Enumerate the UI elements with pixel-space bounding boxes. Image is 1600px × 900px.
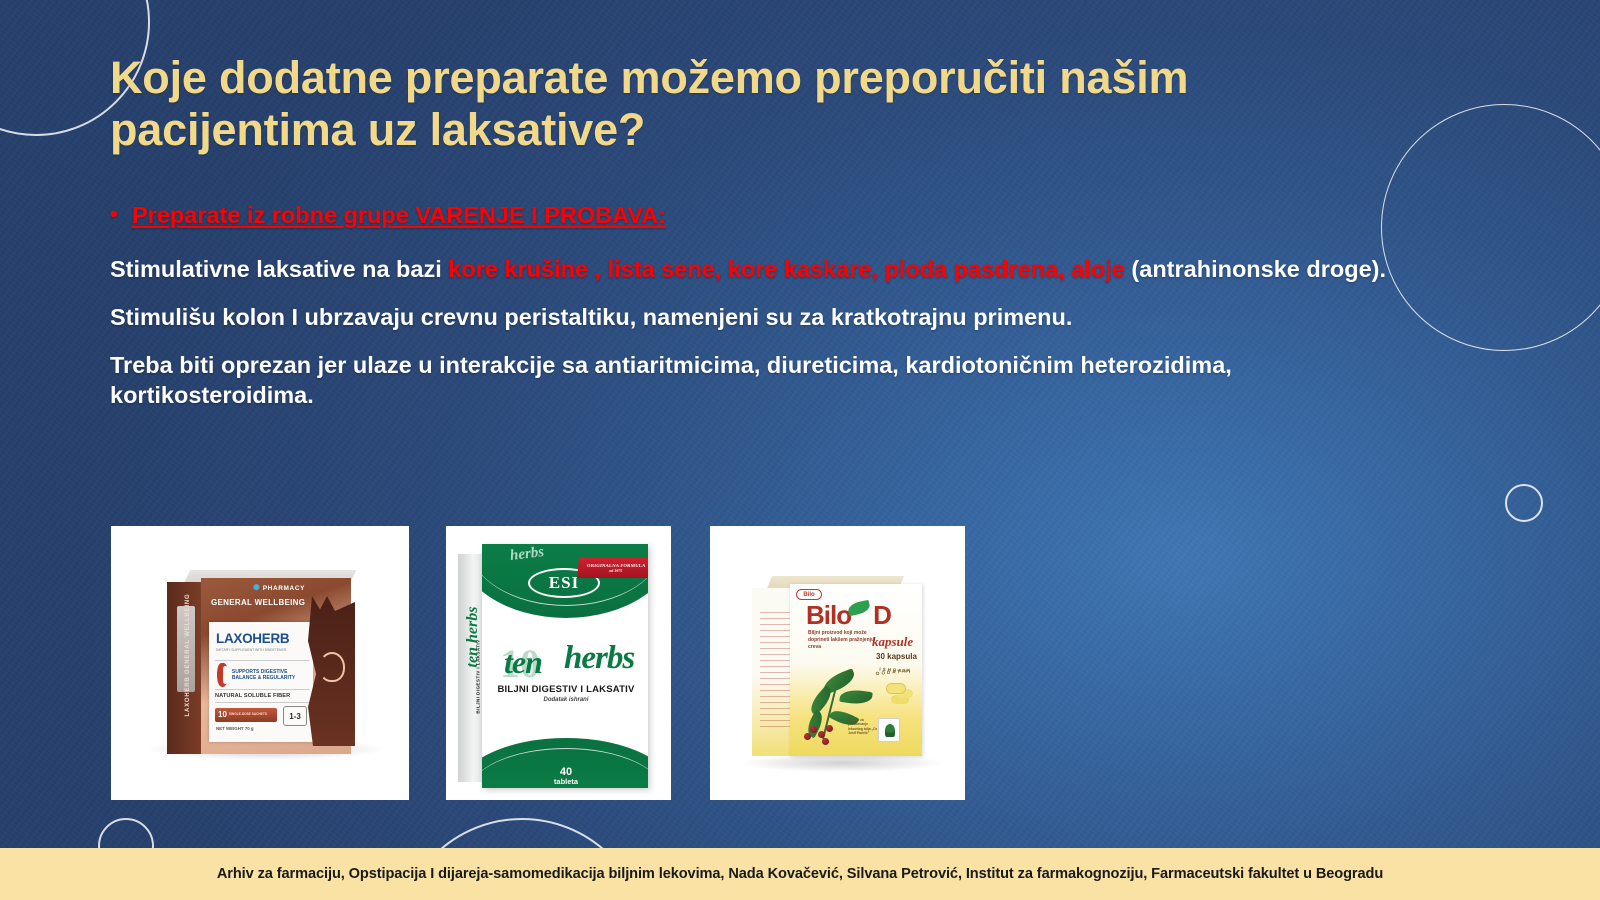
bilo-d-box-side [752,588,792,756]
laxoherb-brand: ✺ PHARMACY [253,583,305,592]
bilo-d-supplement-badge: DODATAK ISHRANI [874,668,918,712]
laxoherb-sachet-badge: 10 SINGLE-DOSE SACHETS [215,708,277,722]
slide-canvas: Koje dodatne preparate možemo preporučit… [0,0,1600,900]
ten-herbs-name-ten: ten [504,644,542,681]
bilo-d-corner-logo: Bilo [796,589,822,600]
bullet-item: • Preparate iz robne grupe VARENJE I PRO… [110,200,1440,230]
bilo-d-institute-logo [878,718,900,742]
digestive-body-icon [217,663,228,687]
laxoherb-front-label: LAXOHERB DIETARY SUPPLEMENT WITH SWEETEN… [209,622,313,742]
paragraph-stimulative-laxatives: Stimulativne laksative na bazi kore kruš… [110,254,1440,284]
laxoherb-side-label: LAXOHERB GENERAL WELLBEING [185,590,191,720]
ten-herbs-box-front: herbs ESI ORIGINALNA FORMULA od 1975 10 … [482,544,648,788]
laxoherb-subtitle: DIETARY SUPPLEMENT WITH SWEETENER [216,648,308,652]
ten-herbs-count: 40 tableta [516,766,616,786]
product-image-laxoherb[interactable]: LAXOHERB GENERAL WELLBEING ✺ PHARMACY GE… [111,526,409,800]
laxoherb-box-front: ✺ PHARMACY GENERAL WELLBEING LAXOHERB DI… [201,578,351,754]
laxoherb-category: GENERAL WELLBEING [211,598,305,607]
ten-herbs-side-tagline: BILJNI DIGESTIV I LAKSATIV [476,632,481,722]
footer-citation: Arhiv za farmaciju, Opstipacija I dijare… [217,866,1383,882]
footer-band: Arhiv za farmaciju, Opstipacija I dijare… [0,848,1600,900]
laxoherb-intestine-icon [319,652,345,682]
bilo-d-form: kapsule [872,634,913,650]
laxoherb-claim-box: SUPPORTS DIGESTIVE BALANCE & REGULARITY [215,660,309,690]
plant-berry [810,726,817,733]
paragraph-interactions-warning: Treba biti oprezan jer ulaze u interakci… [110,350,1440,410]
bilo-d-buckthorn-illustration [796,668,880,748]
bilo-d-institute-text: Institut za proučavanje lekovitog bilja … [848,718,878,736]
plant-berry [822,738,829,745]
laxoherb-product-name: LAXOHERB [216,631,289,646]
laxoherb-claim-text: SUPPORTS DIGESTIVE BALANCE & REGULARITY [232,669,309,681]
plant-leaf [839,688,873,706]
product-image-bilo-d[interactable]: Bilo BiloD Biljni proizvod koji može dop… [710,526,965,800]
plant-berry [826,725,833,732]
laxoherb-carton: LAXOHERB GENERAL WELLBEING ✺ PHARMACY GE… [159,578,369,758]
plant-berry [818,731,825,738]
bilo-d-name-part1: Bilo [806,600,851,630]
ten-herbs-count-unit: tableta [516,778,616,786]
pharmacy-swoosh-icon: ✺ [253,583,260,592]
plant-berry [804,733,811,740]
ten-herbs-supplement-note: Dodatak ishrani [496,697,636,703]
decorative-circle-small-right [1505,484,1543,522]
bilo-d-side-nutrition-table [760,612,790,732]
slide-title: Koje dodatne preparate možemo preporučit… [110,52,1310,156]
laxoherb-divider [215,702,309,703]
bullet-item-label: Preparate iz robne grupe VARENJE I PROBA… [132,200,666,230]
laxoherb-sachet-count: 10 [218,711,227,719]
product-image-ten-herbs[interactable]: ten herbs BILJNI DIGESTIV I LAKSATIV her… [446,526,671,800]
bilo-d-carton: Bilo BiloD Biljni proizvod koji može dop… [748,586,938,768]
paragraph-colon-stimulation: Stimulišu kolon I ubrzavaju crevnu peris… [110,302,1440,332]
bilo-d-box-front: Bilo BiloD Biljni proizvod koji može dop… [790,584,922,756]
laxoherb-box-side: LAXOHERB GENERAL WELLBEING [167,582,203,754]
laxoherb-sachet-text: SINGLE-DOSE SACHETS [229,713,267,717]
bilo-d-shadow [742,754,942,772]
paragraph-1-lead: Stimulativne laksative na bazi [110,256,448,282]
paragraph-1-highlight: kore krušine , lista sene, kore kaskare,… [448,256,1125,282]
laxoherb-dose-badge: 1-3 [283,706,307,726]
bilo-d-count: 30 kapsula [876,652,917,661]
ten-herbs-tagline: BILJNI DIGESTIV I LAKSATIV [496,684,636,695]
laxoherb-brand-label: PHARMACY [263,585,305,592]
laxoherb-net-weight: NET WEIGHT 70 g [216,726,254,731]
slide-body: • Preparate iz robne grupe VARENJE I PRO… [110,200,1440,428]
paragraph-1-tail: (antrahinonske droge). [1125,256,1386,282]
ten-herbs-ribbon-line2: od 1975 [609,568,623,573]
bullet-marker: • [110,200,132,228]
ten-herbs-carton: ten herbs BILJNI DIGESTIV I LAKSATIV her… [458,536,658,791]
ten-herbs-name-herbs: herbs [564,640,634,677]
laxoherb-fiber-text: NATURAL SOLUBLE FIBER [215,693,290,699]
ten-herbs-box-side: ten herbs BILJNI DIGESTIV I LAKSATIV [458,554,484,782]
ten-herbs-origin-ribbon: ORIGINALNA FORMULA od 1975 [577,558,648,578]
bilo-d-badge-bottom: ISHRANI [877,667,920,713]
